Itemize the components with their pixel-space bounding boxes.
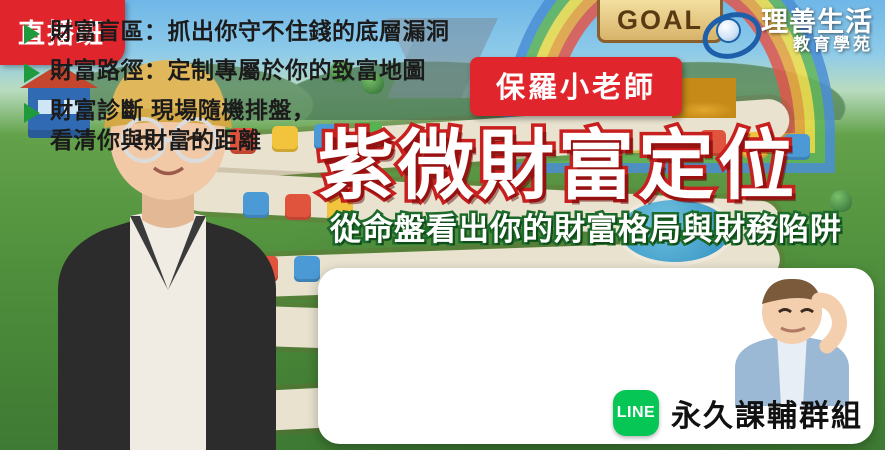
line-icon[interactable]: LINE (613, 390, 659, 436)
line-cta-text: 永久課輔群組 (671, 391, 863, 435)
feature-bullet-line: 財富診斷 現場隨機排盤， (50, 95, 315, 125)
feature-bullet-line: 財富盲區：抓出你守不住錢的底層漏洞 (50, 16, 450, 46)
brand-subname: 教育學苑 (761, 36, 873, 54)
feature-bullet-text: 財富盲區：抓出你守不住錢的底層漏洞 (50, 16, 450, 46)
page-title: 紫微財富定位 (318, 104, 798, 214)
swoosh-orbit-icon (702, 11, 754, 51)
orbit-sphere (718, 20, 739, 41)
feature-bullet-item: 財富盲區：抓出你守不住錢的底層漏洞 (24, 16, 450, 46)
triangle-bullet-icon (24, 24, 40, 44)
brand-logo-text: 理善生活 教育學苑 (761, 8, 873, 54)
feature-bullet-line: 財富路徑：定制專屬於你的致富地圖 (50, 55, 426, 85)
feature-bullet-item: 財富路徑：定制專屬於你的致富地圖 (24, 55, 450, 85)
thinking-person-illustration (717, 276, 867, 406)
triangle-bullet-icon (24, 103, 40, 123)
feature-bullet-text: 財富路徑：定制專屬於你的致富地圖 (50, 55, 426, 85)
feature-bullet-text: 財富診斷 現場隨機排盤，看清你與財富的距離 (50, 95, 315, 156)
page-subtitle: 從命盤看出你的財富格局與財務陷阱 (330, 204, 842, 249)
brand-name: 理善生活 (761, 8, 873, 36)
triangle-bullet-icon (24, 63, 40, 83)
line-group-cta[interactable]: LINE 永久課輔群組 (613, 390, 863, 436)
feature-bullet-line: 看清你與財富的距離 (50, 125, 315, 155)
brand-logo: 理善生活 教育學苑 (702, 8, 873, 54)
promo-poster: GOAL 直播班 理善生活 教育學苑 保羅小 (0, 0, 885, 450)
